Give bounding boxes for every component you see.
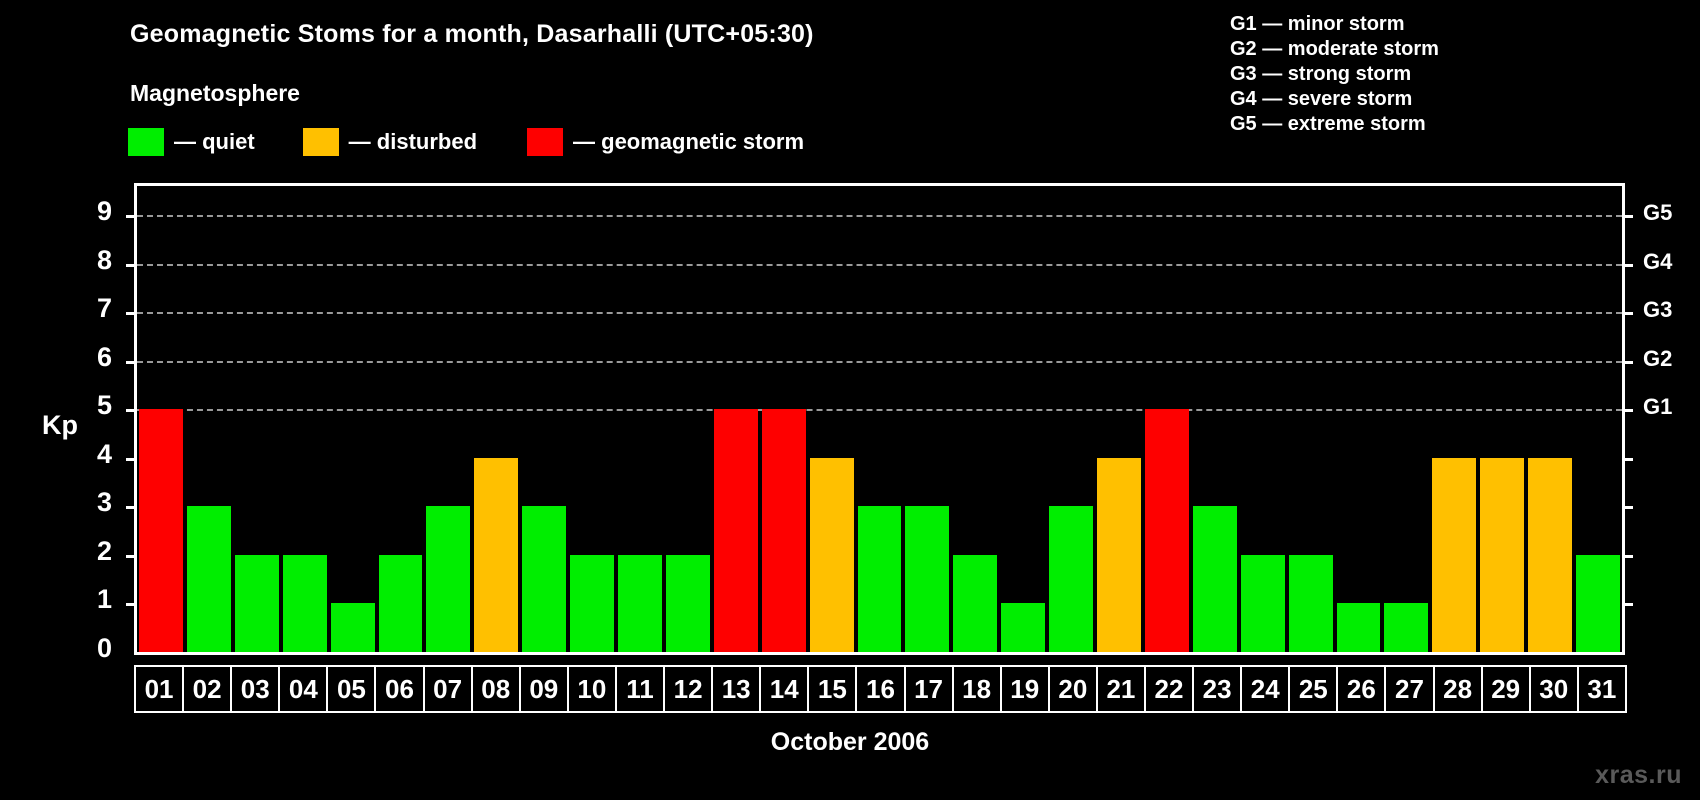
bar-day-11[interactable] (618, 555, 662, 652)
day-label-13[interactable]: 13 (711, 665, 761, 713)
y-axis-tick (126, 215, 137, 218)
day-label-05[interactable]: 05 (326, 665, 376, 713)
day-label-15[interactable]: 15 (807, 665, 857, 713)
bar-day-10[interactable] (570, 555, 614, 652)
y-axis-tick (126, 506, 137, 509)
y-axis-tick (126, 458, 137, 461)
bar-series (137, 186, 1622, 652)
y-axis-tick (126, 361, 137, 364)
day-label-03[interactable]: 03 (230, 665, 280, 713)
x-axis-day-strip: 0102030405060708091011121314151617181920… (134, 665, 1625, 713)
y-axis-tick (126, 409, 137, 412)
bar-day-05[interactable] (331, 603, 375, 652)
day-label-14[interactable]: 14 (759, 665, 809, 713)
bar-day-22[interactable] (1145, 409, 1189, 652)
day-label-23[interactable]: 23 (1192, 665, 1242, 713)
day-label-29[interactable]: 29 (1481, 665, 1531, 713)
g-axis-tick (1622, 555, 1633, 558)
g-axis-tick (1622, 506, 1633, 509)
y-axis-label: 1 (70, 584, 112, 615)
g-axis-label-g2: G2 (1643, 346, 1700, 372)
bar-day-04[interactable] (283, 555, 327, 652)
y-axis-label: 2 (70, 536, 112, 567)
g-axis-label-g4: G4 (1643, 249, 1700, 275)
g-axis-label-g1: G1 (1643, 394, 1700, 420)
y-axis-label: 9 (70, 196, 112, 227)
day-label-09[interactable]: 09 (519, 665, 569, 713)
y-axis-tick (126, 312, 137, 315)
bar-day-20[interactable] (1049, 506, 1093, 652)
bar-day-06[interactable] (379, 555, 423, 652)
day-label-22[interactable]: 22 (1144, 665, 1194, 713)
day-label-21[interactable]: 21 (1096, 665, 1146, 713)
x-axis-title: October 2006 (0, 728, 1700, 757)
bar-day-02[interactable] (187, 506, 231, 652)
y-axis-label: 0 (70, 633, 112, 664)
bar-day-13[interactable] (714, 409, 758, 652)
bar-day-30[interactable] (1528, 458, 1572, 652)
g-axis-tick (1622, 312, 1633, 315)
bar-day-27[interactable] (1384, 603, 1428, 652)
day-label-28[interactable]: 28 (1433, 665, 1483, 713)
g-axis-tick (1622, 409, 1633, 412)
day-label-08[interactable]: 08 (471, 665, 521, 713)
bar-day-31[interactable] (1576, 555, 1620, 652)
y-axis-tick (126, 264, 137, 267)
day-label-31[interactable]: 31 (1577, 665, 1627, 713)
bar-day-23[interactable] (1193, 506, 1237, 652)
y-axis-label: 5 (70, 390, 112, 421)
bar-day-21[interactable] (1097, 458, 1141, 652)
day-label-10[interactable]: 10 (567, 665, 617, 713)
g-axis-label-g5: G5 (1643, 200, 1700, 226)
y-axis-tick (126, 603, 137, 606)
y-axis-label: 7 (70, 293, 112, 324)
day-label-24[interactable]: 24 (1240, 665, 1290, 713)
g-axis-tick (1622, 603, 1633, 606)
bar-day-24[interactable] (1241, 555, 1285, 652)
bar-day-25[interactable] (1289, 555, 1333, 652)
plot-area (134, 183, 1625, 655)
day-label-19[interactable]: 19 (1000, 665, 1050, 713)
g-axis-label-g3: G3 (1643, 297, 1700, 323)
watermark: xras.ru (1595, 761, 1682, 790)
day-label-07[interactable]: 07 (423, 665, 473, 713)
bar-day-07[interactable] (426, 506, 470, 652)
bar-day-14[interactable] (762, 409, 806, 652)
y-axis-label: 6 (70, 342, 112, 373)
g-axis-tick (1622, 215, 1633, 218)
day-label-04[interactable]: 04 (278, 665, 328, 713)
bar-day-17[interactable] (905, 506, 949, 652)
day-label-01[interactable]: 01 (134, 665, 184, 713)
y-axis-tick (126, 555, 137, 558)
day-label-02[interactable]: 02 (182, 665, 232, 713)
bar-day-26[interactable] (1337, 603, 1381, 652)
day-label-26[interactable]: 26 (1336, 665, 1386, 713)
bar-day-15[interactable] (810, 458, 854, 652)
bar-day-28[interactable] (1432, 458, 1476, 652)
day-label-11[interactable]: 11 (615, 665, 665, 713)
y-axis-label: 3 (70, 487, 112, 518)
day-label-16[interactable]: 16 (855, 665, 905, 713)
day-label-12[interactable]: 12 (663, 665, 713, 713)
bar-day-03[interactable] (235, 555, 279, 652)
bar-day-12[interactable] (666, 555, 710, 652)
bar-day-19[interactable] (1001, 603, 1045, 652)
bar-day-08[interactable] (474, 458, 518, 652)
day-label-27[interactable]: 27 (1384, 665, 1434, 713)
bar-day-16[interactable] (858, 506, 902, 652)
day-label-30[interactable]: 30 (1529, 665, 1579, 713)
day-label-20[interactable]: 20 (1048, 665, 1098, 713)
g-axis-tick (1622, 264, 1633, 267)
chart-page: Geomagnetic Stoms for a month, Dasarhall… (0, 0, 1700, 800)
day-label-25[interactable]: 25 (1288, 665, 1338, 713)
g-axis-tick (1622, 361, 1633, 364)
bar-day-29[interactable] (1480, 458, 1524, 652)
y-axis-label: 4 (70, 439, 112, 470)
g-axis-tick (1622, 458, 1633, 461)
day-label-18[interactable]: 18 (952, 665, 1002, 713)
day-label-17[interactable]: 17 (904, 665, 954, 713)
bar-day-01[interactable] (139, 409, 183, 652)
bar-day-18[interactable] (953, 555, 997, 652)
bar-day-09[interactable] (522, 506, 566, 652)
y-axis-label: 8 (70, 245, 112, 276)
day-label-06[interactable]: 06 (374, 665, 424, 713)
